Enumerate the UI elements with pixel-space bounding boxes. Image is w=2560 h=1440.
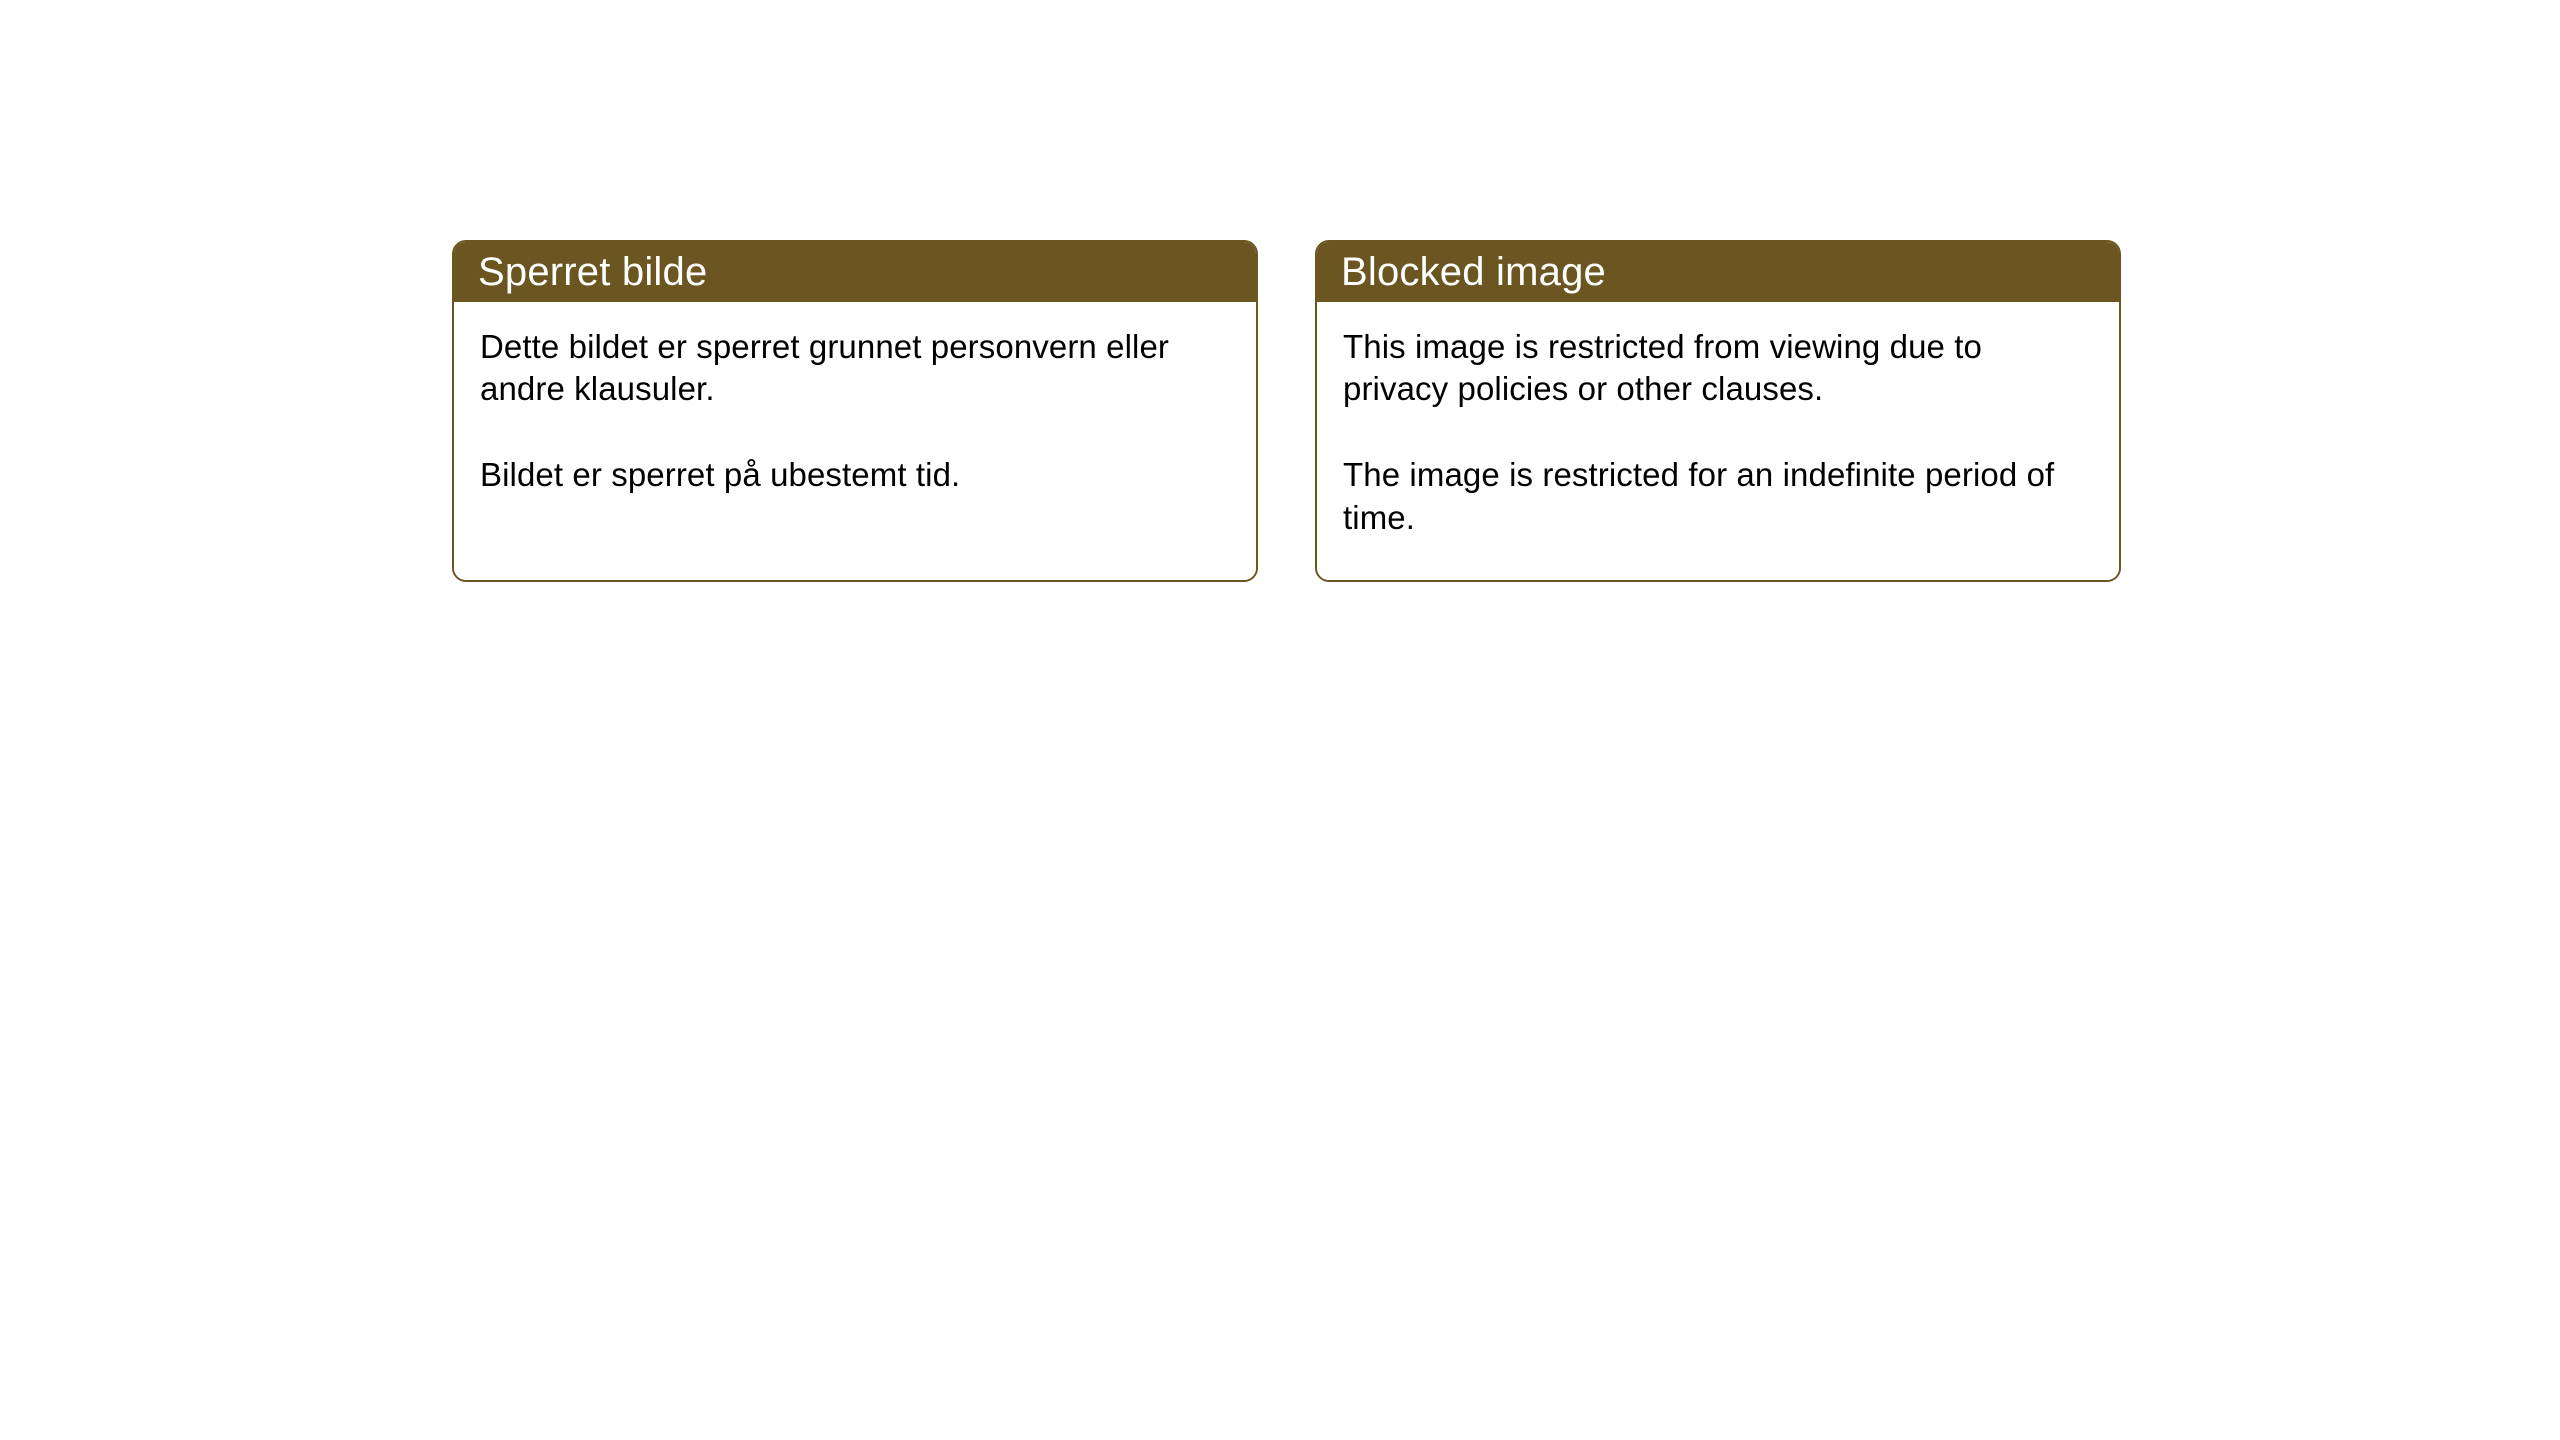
card-title-norwegian: Sperret bilde: [478, 252, 707, 292]
card-paragraph-secondary-english: The image is restricted for an indefinit…: [1343, 454, 2093, 538]
card-paragraph-primary-norwegian: Dette bildet er sperret grunnet personve…: [480, 326, 1230, 410]
blocked-image-card-norwegian: Sperret bilde Dette bildet er sperret gr…: [452, 240, 1258, 582]
card-paragraph-primary-english: This image is restricted from viewing du…: [1343, 326, 2093, 410]
blocked-image-card-english: Blocked image This image is restricted f…: [1315, 240, 2121, 582]
card-header-norwegian: Sperret bilde: [454, 242, 1256, 302]
card-paragraph-secondary-norwegian: Bildet er sperret på ubestemt tid.: [480, 454, 1230, 496]
card-body-english: This image is restricted from viewing du…: [1317, 302, 2119, 580]
card-header-english: Blocked image: [1317, 242, 2119, 302]
blocked-image-notices: Sperret bilde Dette bildet er sperret gr…: [452, 240, 2121, 582]
card-title-english: Blocked image: [1341, 252, 1606, 292]
card-body-norwegian: Dette bildet er sperret grunnet personve…: [454, 302, 1256, 580]
